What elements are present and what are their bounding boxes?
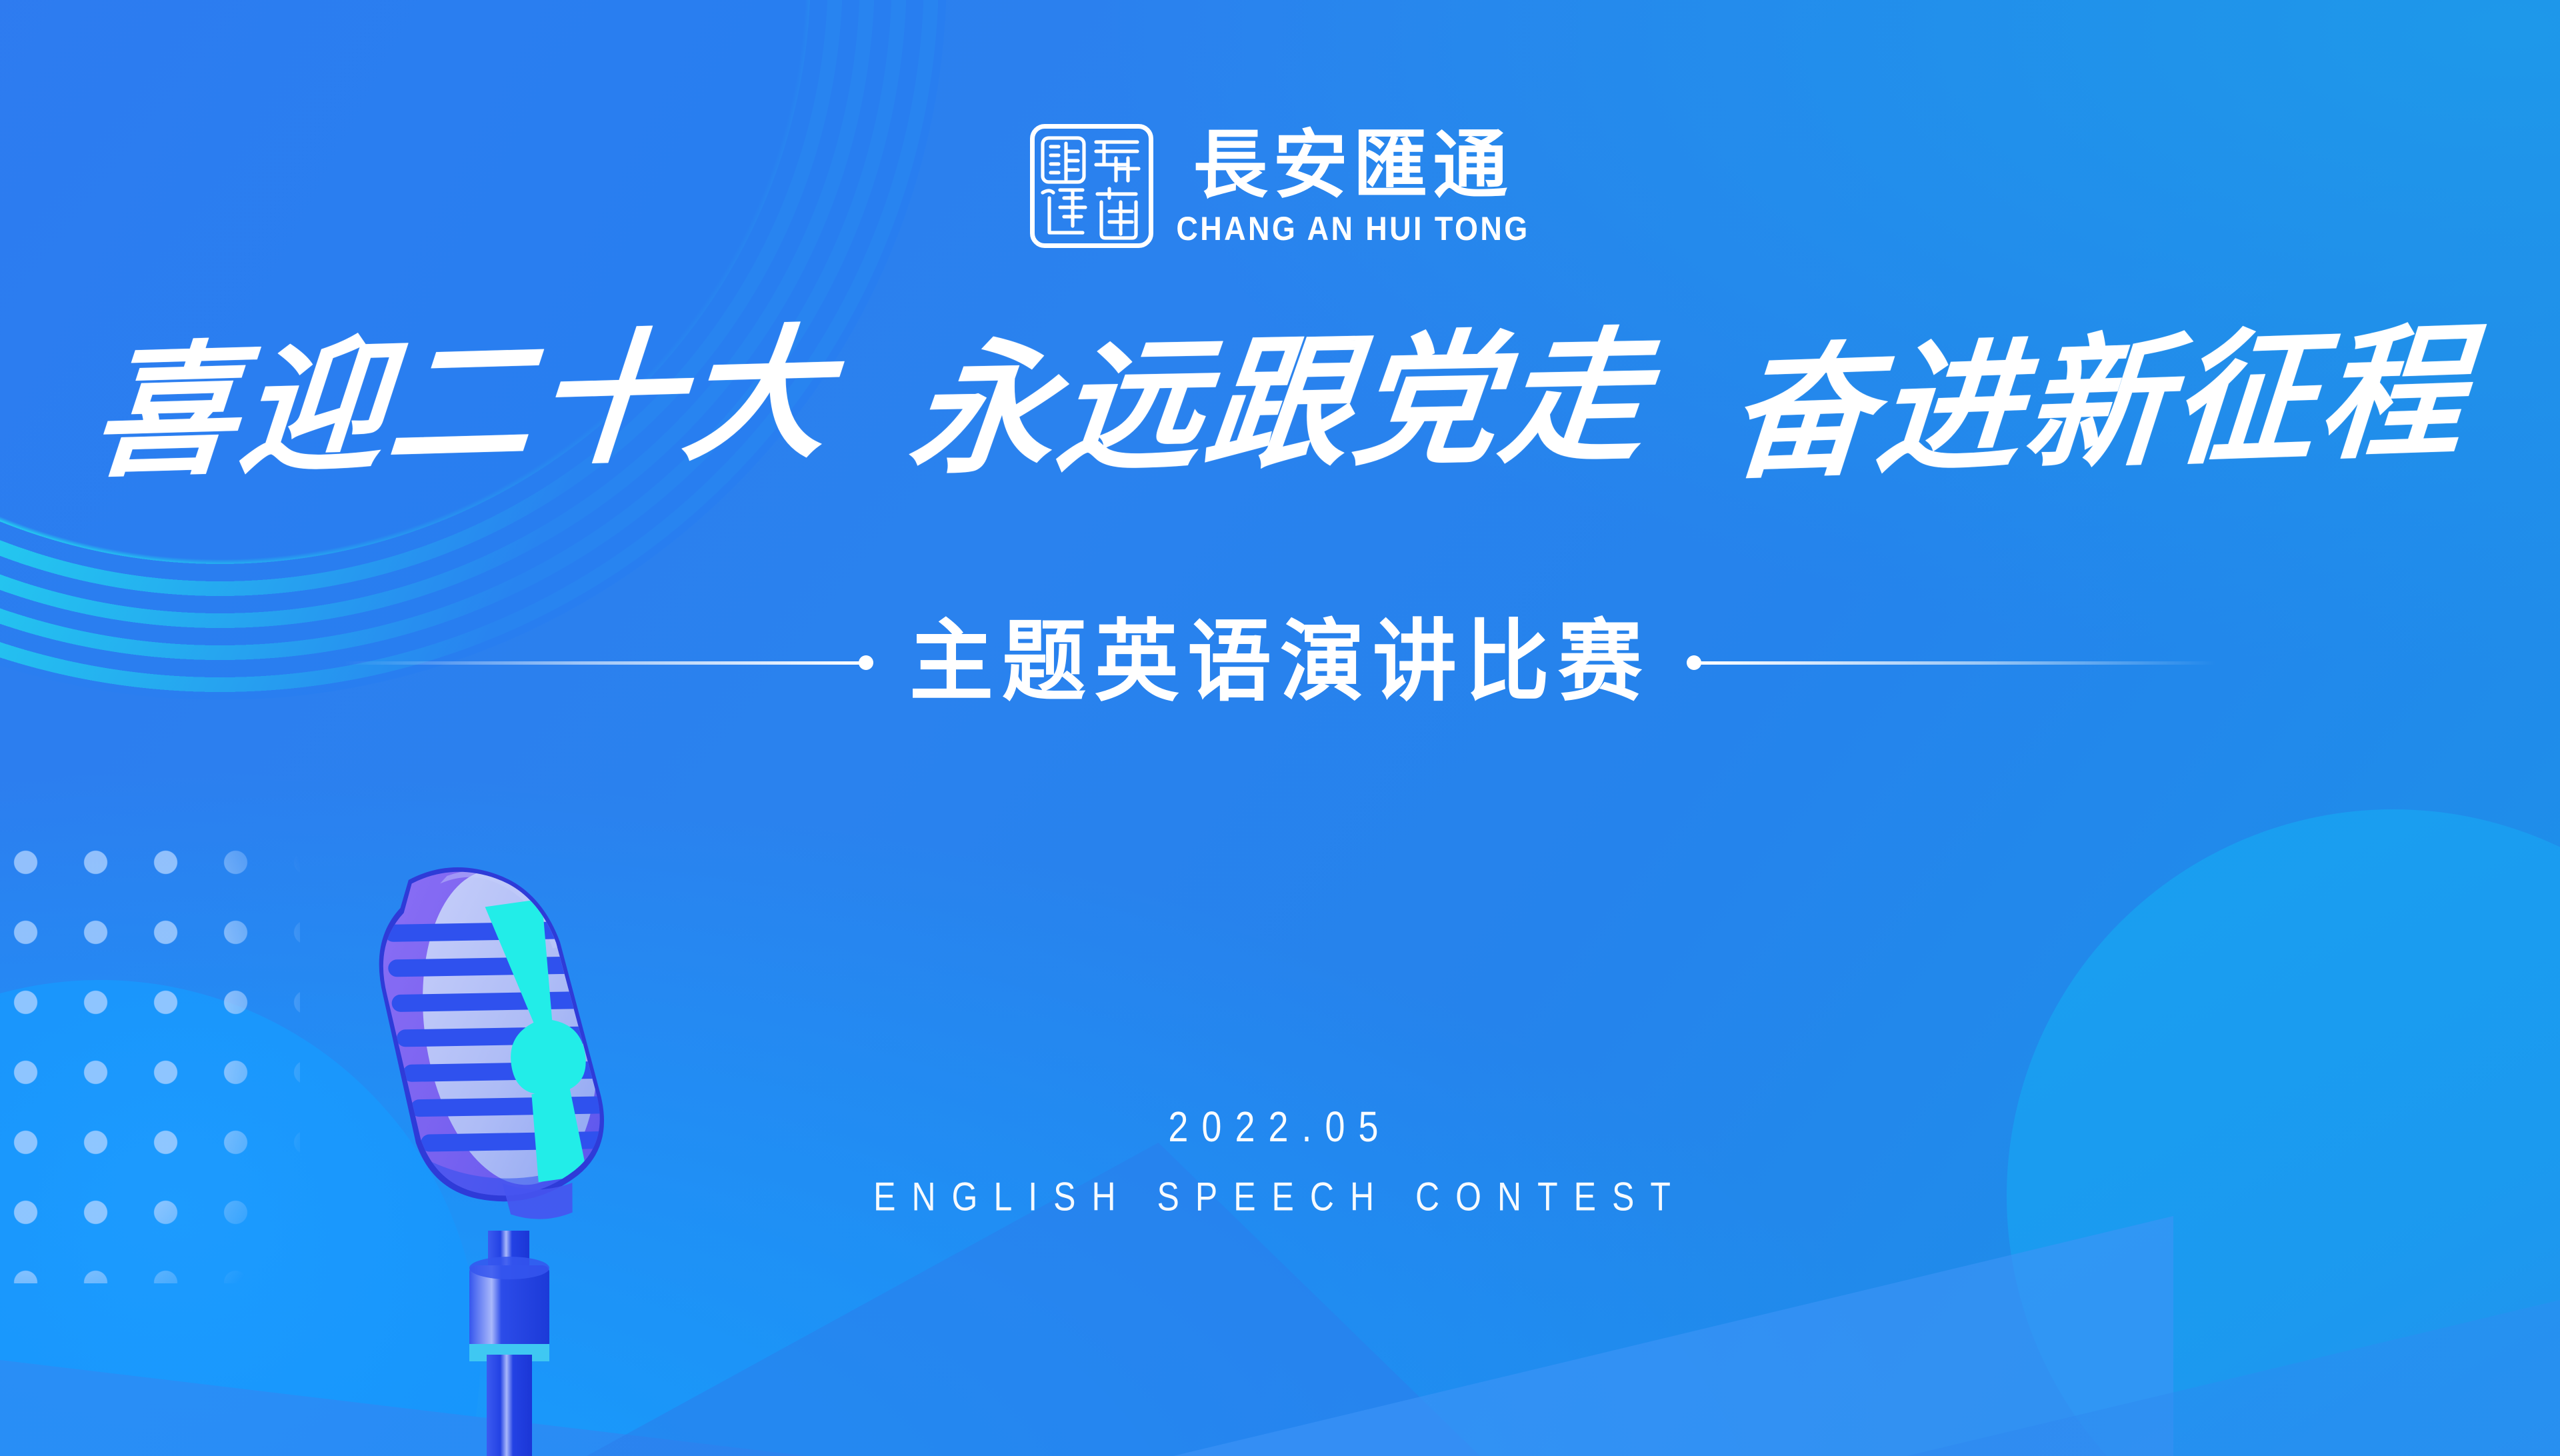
event-date: 2022.05 (1168, 1103, 1391, 1151)
mic-stand (469, 1231, 549, 1456)
changan-huitong-seal-icon (1030, 124, 1153, 248)
headline-phrase-2: 永远跟党走 (903, 326, 1657, 483)
decorative-rule-right (1689, 659, 2216, 665)
retro-microphone-icon (373, 860, 660, 1456)
headline-phrase-1: 喜迎二十大 (87, 323, 837, 487)
event-english-title: ENGLISH SPEECH CONTEST (873, 1173, 1687, 1220)
logo-name-en: CHANG AN HUI TONG (1176, 209, 1529, 248)
rule-knob (1687, 655, 1701, 670)
subtitle-text: 主题英语演讲比赛 (909, 617, 1651, 707)
mic-stem (487, 1355, 532, 1456)
decorative-rule-left (344, 659, 871, 665)
headline-phrase-3: 奋进新征程 (1723, 321, 2473, 489)
logo-name-cn: 長安匯通 (1193, 128, 1513, 204)
headline-calligraphy: 喜迎二十大 永远跟党走 奋进新征程 (0, 333, 2560, 477)
rule-bar (344, 661, 871, 665)
poster-canvas: 長安匯通 CHANG AN HUI TONG 喜迎二十大 永远跟党走 奋进新征程… (0, 0, 2560, 1456)
subtitle-row: 主题英语演讲比赛 (0, 620, 2560, 704)
rule-bar (1689, 661, 2216, 665)
rule-knob (859, 655, 873, 670)
logo-wordmark: 長安匯通 CHANG AN HUI TONG (1176, 128, 1529, 244)
brand-logo: 長安匯通 CHANG AN HUI TONG (0, 124, 2560, 248)
